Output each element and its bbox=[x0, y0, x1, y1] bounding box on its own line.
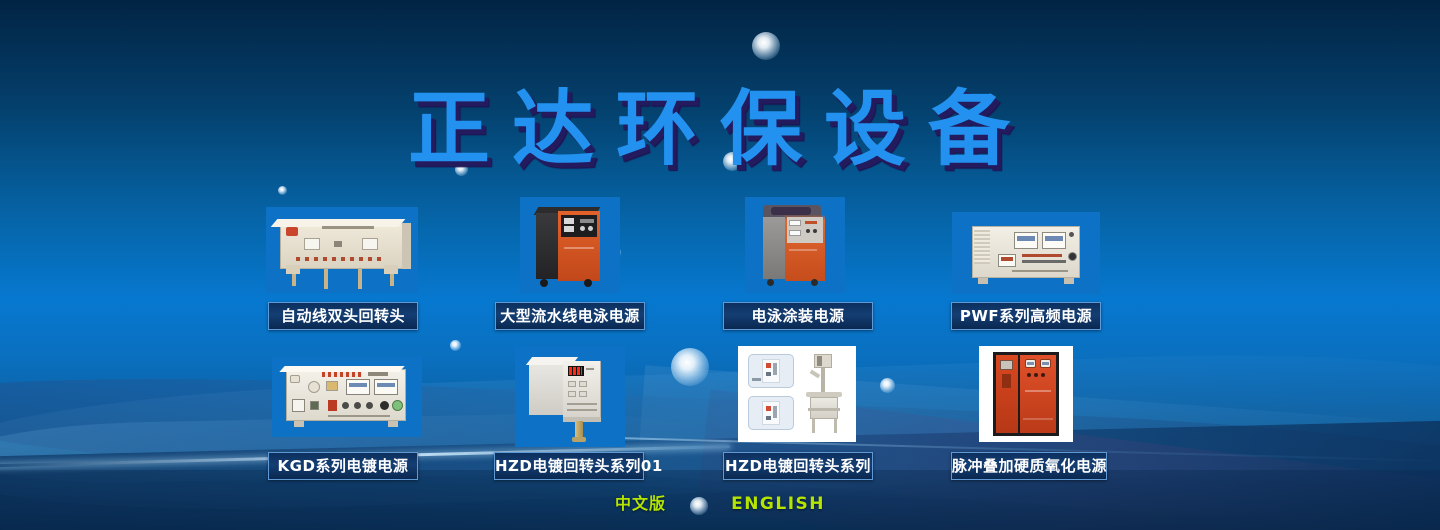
product-label-large-line-ed-supply[interactable]: 大型流水线电泳电源 bbox=[495, 302, 645, 330]
product-label-kgd-plating-supply[interactable]: KGD系列电镀电源 bbox=[268, 452, 418, 480]
bokeh-dot bbox=[880, 378, 895, 393]
product-label-hzd-rotary-head-01[interactable]: HZD电镀回转头系列01 bbox=[494, 452, 644, 480]
language-nav: 中文版 ENGLISH bbox=[0, 490, 1440, 514]
product-label-pwf-hf-supply[interactable]: PWF系列高频电源 bbox=[951, 302, 1101, 330]
product-image-hzd-rotary-head bbox=[738, 346, 856, 442]
nav-link-chinese[interactable]: 中文版 bbox=[615, 494, 666, 513]
page-title: 正达环保设备 bbox=[0, 62, 1440, 181]
product-image-pulse-hard-anodize bbox=[979, 346, 1073, 442]
product-image-kgd-plating-supply bbox=[272, 357, 422, 437]
bokeh-dot bbox=[278, 186, 287, 195]
product-image-auto-line-double-head bbox=[266, 207, 418, 293]
product-image-hzd-rotary-head-01 bbox=[515, 347, 625, 447]
product-label-pulse-hard-anodize[interactable]: 脉冲叠加硬质氧化电源 bbox=[951, 452, 1107, 480]
bokeh-dot bbox=[752, 32, 780, 60]
nav-link-english[interactable]: ENGLISH bbox=[731, 494, 825, 514]
product-label-auto-line-double-head[interactable]: 自动线双头回转头 bbox=[268, 302, 418, 330]
bokeh-dot bbox=[450, 340, 461, 351]
product-image-large-line-ed-supply bbox=[520, 197, 620, 293]
product-label-hzd-rotary-head[interactable]: HZD电镀回转头系列 bbox=[723, 452, 873, 480]
product-label-ed-coating-supply[interactable]: 电泳涂装电源 bbox=[723, 302, 873, 330]
product-image-ed-coating-supply bbox=[745, 197, 845, 293]
product-image-pwf-hf-supply bbox=[952, 212, 1100, 294]
homepage-stage: 正达环保设备 自动线双头回转头 bbox=[0, 0, 1440, 530]
bokeh-dot bbox=[671, 348, 709, 386]
